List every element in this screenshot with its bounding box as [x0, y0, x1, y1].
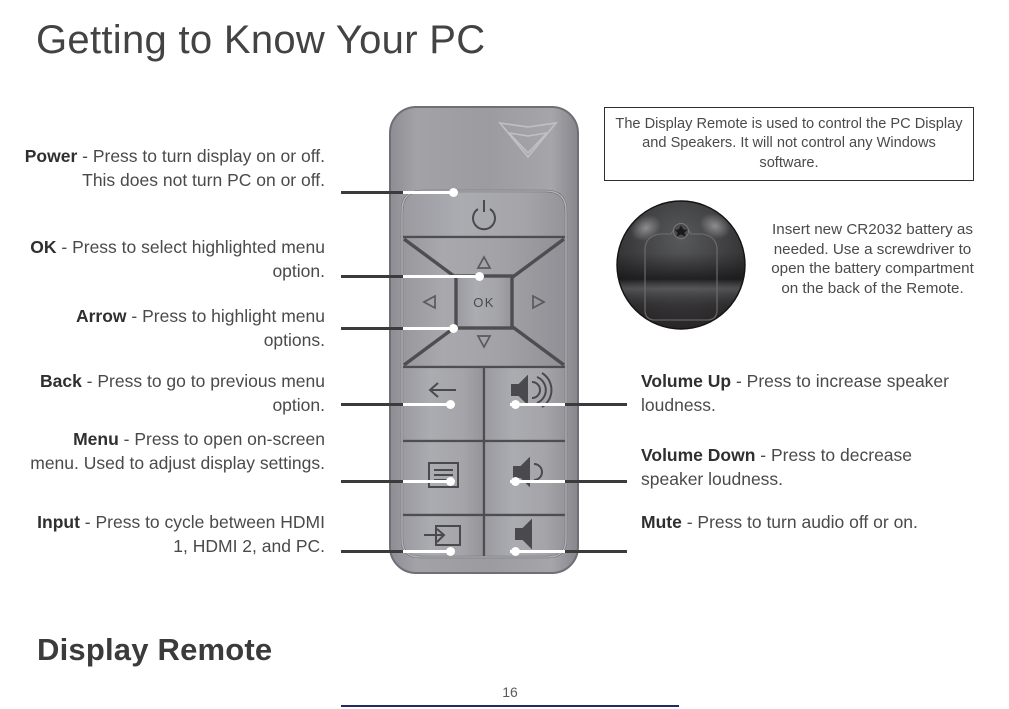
leader-line-arrow — [341, 327, 403, 330]
callout-ok-desc: Press to select highlighted menu option. — [72, 237, 325, 281]
callout-back-name: Back — [40, 371, 82, 391]
callout-menu: Menu - Press to open on-screen menu. Use… — [20, 428, 325, 475]
leader-line-power — [341, 191, 403, 194]
battery-note-text: Insert new CR2032 battery as needed. Use… — [770, 220, 975, 298]
callout-volume-down-name: Volume Down — [641, 445, 755, 465]
page-number: 16 — [341, 684, 679, 700]
leader-line-menu — [341, 480, 403, 483]
footer-rule — [341, 705, 679, 707]
callout-back-desc: Press to go to previous menu option. — [97, 371, 325, 415]
callout-arrow-name: Arrow — [76, 306, 127, 326]
callout-arrow: Arrow - Press to highlight menu options. — [20, 305, 325, 352]
callout-back: Back - Press to go to previous menu opti… — [20, 370, 325, 417]
leader-line-ok — [341, 275, 403, 278]
callout-mute-sep: - — [682, 512, 698, 532]
manual-page: Getting to Know Your PC The Display Remo… — [0, 0, 1009, 709]
callout-ok: OK - Press to select highlighted menu op… — [20, 236, 325, 283]
remote-button-menu[interactable] — [402, 441, 484, 515]
leader-line-input — [341, 550, 403, 553]
callout-mute-desc: Press to turn audio off or on. — [697, 512, 918, 532]
callout-input-desc: Press to cycle between HDMI 1, HDMI 2, a… — [95, 512, 325, 556]
callout-power-name: Power — [25, 146, 78, 166]
callout-menu-sep: - — [119, 429, 135, 449]
callout-volume-up-name: Volume Up — [641, 371, 731, 391]
callout-volume-down-sep: - — [755, 445, 771, 465]
callout-menu-name: Menu — [73, 429, 119, 449]
battery-back-svg — [615, 198, 760, 333]
leader-dot-menu — [446, 477, 455, 486]
leader-line-voldown — [565, 480, 627, 483]
leader-line-arrow-white — [403, 327, 453, 330]
callout-mute: Mute - Press to turn audio off or on. — [641, 511, 961, 535]
remote-svg: OK — [388, 105, 580, 575]
callout-arrow-desc: Press to highlight menu options. — [142, 306, 325, 350]
callout-input-sep: - — [80, 512, 96, 532]
callout-volume-up-sep: - — [731, 371, 747, 391]
callout-volume-down: Volume Down - Press to decrease speaker … — [641, 444, 961, 491]
callout-arrow-sep: - — [127, 306, 143, 326]
leader-dot-mute — [511, 547, 520, 556]
leader-dot-arrow — [449, 324, 458, 333]
callout-back-sep: - — [82, 371, 98, 391]
callout-input: Input - Press to cycle between HDMI 1, H… — [20, 511, 325, 558]
leader-line-back — [341, 403, 403, 406]
callout-input-name: Input — [37, 512, 80, 532]
page-title: Getting to Know Your PC — [36, 18, 485, 63]
leader-dot-back — [446, 400, 455, 409]
display-remote-graphic: OK — [388, 105, 580, 575]
leader-line-power-white — [403, 191, 453, 194]
callout-ok-sep: - — [57, 237, 73, 257]
leader-dot-input — [446, 547, 455, 556]
leader-line-mute — [565, 550, 627, 553]
info-box-text: The Display Remote is used to control th… — [605, 115, 973, 174]
section-title: Display Remote — [37, 632, 272, 668]
leader-line-volup — [565, 403, 627, 406]
callout-mute-name: Mute — [641, 512, 682, 532]
leader-line-ok-white — [403, 275, 479, 278]
leader-dot-power — [449, 188, 458, 197]
callout-volume-up: Volume Up - Press to increase speaker lo… — [641, 370, 961, 417]
battery-compartment-image — [615, 198, 760, 333]
callout-power: Power - Press to turn display on or off.… — [20, 145, 325, 192]
callout-power-desc: Press to turn display on or off. This do… — [82, 146, 325, 190]
info-box: The Display Remote is used to control th… — [604, 107, 974, 181]
leader-dot-ok — [475, 272, 484, 281]
leader-dot-voldown — [511, 477, 520, 486]
callout-power-sep: - — [77, 146, 93, 166]
ok-icon: OK — [473, 295, 495, 310]
callout-ok-name: OK — [30, 237, 56, 257]
leader-dot-volup — [511, 400, 520, 409]
